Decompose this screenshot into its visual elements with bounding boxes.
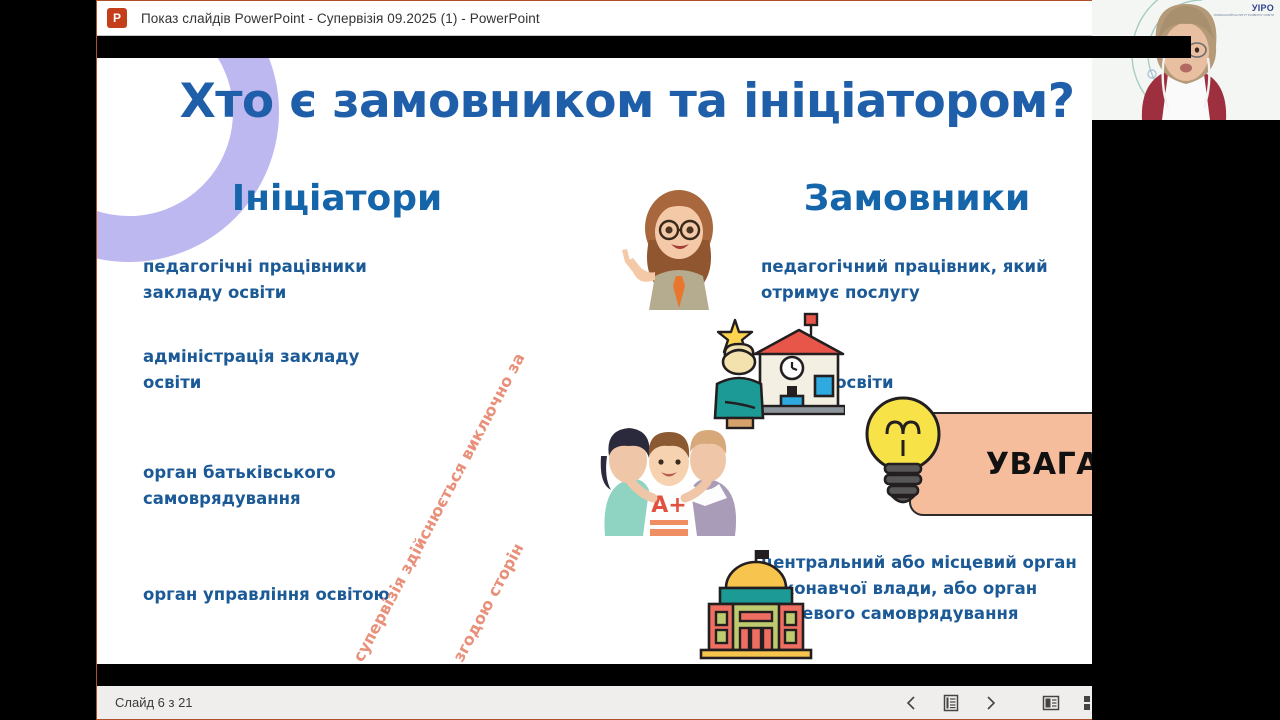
screen-root: P Показ слайдів PowerPoint - Супервізія …	[0, 0, 1280, 720]
presenter-video[interactable]: УІРО УКРАЇНСЬКИЙ ІНСТИТУТ РОЗВИТКУ ОСВІТ…	[1092, 0, 1280, 120]
column-heading-customers: Замовники	[757, 178, 1077, 219]
government-building-illustration	[693, 548, 819, 664]
right-black-area	[1092, 120, 1280, 720]
notes-button[interactable]	[931, 686, 971, 720]
column-heading-initiators: Ініціатори	[207, 178, 467, 219]
initiator-item-1: педагогічні працівники закладу освіти	[143, 254, 423, 305]
slide-canvas: Хто є замовником та ініціатором? Ініціат…	[97, 58, 1191, 664]
letterbox-bottom	[97, 664, 1191, 686]
slide-title: Хто є замовником та ініціатором?	[97, 74, 1157, 129]
letterbox-top	[97, 36, 1191, 58]
window-title: Показ слайдів PowerPoint - Супервізія 09…	[141, 11, 540, 26]
window-titlebar: P Показ слайдів PowerPoint - Супервізія …	[97, 1, 1191, 36]
customer-item-1: педагогічний працівник, який отримує пос…	[761, 254, 1091, 305]
normal-view-button[interactable]	[1031, 686, 1071, 720]
diagonal-note-line2: згодою сторін	[449, 540, 527, 664]
uiro-logo-subtext: УКРАЇНСЬКИЙ ІНСТИТУТ РОЗВИТКУ ОСВІТИ	[1214, 14, 1274, 17]
status-bar: Слайд 6 з 21	[97, 685, 1191, 719]
initiator-item-3: орган батьківського самоврядування	[143, 460, 423, 511]
next-slide-button[interactable]	[971, 686, 1011, 720]
uiro-logo: УІРО УКРАЇНСЬКИЙ ІНСТИТУТ РОЗВИТКУ ОСВІТ…	[1214, 4, 1274, 17]
teacher-pointing-illustration	[619, 180, 739, 315]
uiro-logo-text: УІРО	[1252, 3, 1274, 13]
slide-counter: Слайд 6 з 21	[115, 695, 193, 710]
initiator-item-2: адміністрація закладу освіти	[143, 344, 423, 395]
powerpoint-window: P Показ слайдів PowerPoint - Супервізія …	[96, 0, 1192, 720]
family-with-child-illustration: A+	[595, 426, 745, 541]
lightbulb-icon	[857, 390, 949, 515]
slideshow-area[interactable]: Хто є замовником та ініціатором? Ініціат…	[97, 36, 1191, 686]
previous-slide-button[interactable]	[891, 686, 931, 720]
school-building-illustration	[705, 306, 845, 436]
powerpoint-icon: P	[107, 8, 127, 28]
